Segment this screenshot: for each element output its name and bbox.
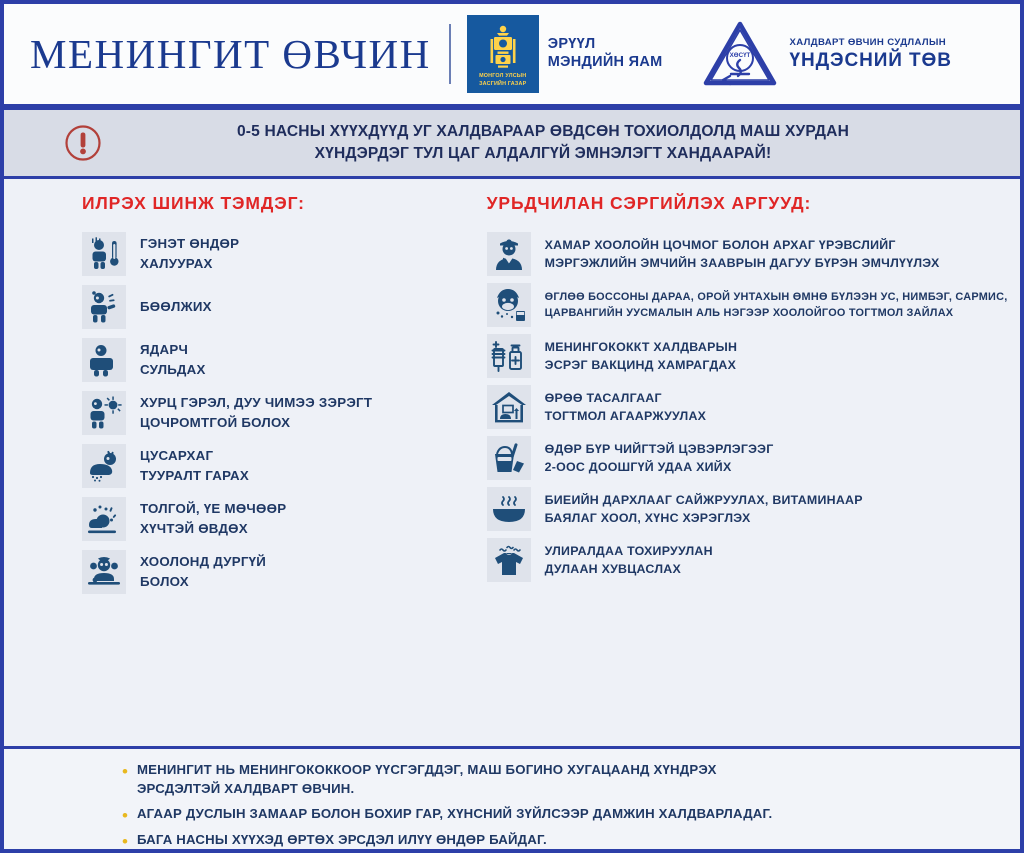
government-logo-block: МОНГОЛ УЛСЫН ЗАСГИЙН ГАЗАР ЭРҮҮЛ МЭНДИЙН… xyxy=(467,15,663,93)
list-item: ЯДАРЧ СУЛЬДАХ xyxy=(82,338,471,382)
list-item-text: ЯДАРЧ СУЛЬДАХ xyxy=(140,340,206,380)
footer-line-1: АГААР ДУСЛЫН ЗАМААР БОЛОН БОХИР ГАР, ХҮН… xyxy=(137,805,772,824)
title-divider xyxy=(449,24,451,84)
item-line-2: БАЯЛАГ ХООЛ, ХҮНС ХЭРЭГЛЭХ xyxy=(545,509,863,527)
gargling-icon xyxy=(487,283,531,327)
footer-line-1: БАГА НАСНЫ ХҮҮХЭД ӨРТӨХ ЭРСДЭЛ ИЛҮҮ ӨНДӨ… xyxy=(137,831,547,850)
item-line-2: ЦАРВАНГИЙН УУСМАЛЫН АЛЬ НЭГЭЭР ХООЛОЙГОО… xyxy=(545,305,1008,321)
item-line-1: ӨГЛӨӨ БОССОНЫ ДАРАА, ОРОЙ УНТАХЫН ӨМНӨ Б… xyxy=(545,289,1008,305)
item-line-2: ХАЛУУРАХ xyxy=(140,254,239,274)
infographic-page: МЕНИНГИТ ӨВЧИН xyxy=(0,0,1024,853)
ncc-line-2: ҮНДЭСНИЙ ТӨВ xyxy=(790,50,952,71)
footer-item-text: АГААР ДУСЛЫН ЗАМААР БОЛОН БОХИР ГАР, ХҮН… xyxy=(137,805,772,824)
ncc-triangle-caduceus-icon: ХӨСҮТ xyxy=(701,18,779,90)
item-line-1: ХУРЦ ГЭРЭЛ, ДУУ ЧИМЭЭ ЗЭРЭГТ xyxy=(140,393,372,413)
list-item: ГЭНЭТ ӨНДӨР ХАЛУУРАХ xyxy=(82,232,471,276)
bullet-icon: • xyxy=(122,763,128,798)
list-item: ХУРЦ ГЭРЭЛ, ДУУ ЧИМЭЭ ЗЭРЭГТ ЦОЧРОМТГОЙ … xyxy=(82,391,471,435)
item-line-1: БИЕИЙН ДАРХЛААГ САЙЖРУУЛАХ, ВИТАМИНААР xyxy=(545,491,863,509)
item-line-1: ӨДӨР БҮР ЧИЙГТЭЙ ЦЭВЭРЛЭГЭЭГ xyxy=(545,440,774,458)
item-line-2: БОЛОХ xyxy=(140,572,266,592)
mongolia-government-emblem: МОНГОЛ УЛСЫН ЗАСГИЙН ГАЗАР xyxy=(467,15,539,93)
item-line-1: ЦУСАРХАГ xyxy=(140,446,249,466)
list-item-text: ЦУСАРХАГ ТУУРАЛТ ГАРАХ xyxy=(140,446,249,486)
list-item: ӨДӨР БҮР ЧИЙГТЭЙ ЦЭВЭРЛЭГЭЭГ 2-ООС ДООШГ… xyxy=(487,436,1020,480)
warning-banner-text: 0-5 НАСНЫ ХҮҮХДҮҮД УГ ХАЛДВАРААР ӨВДСӨН … xyxy=(124,121,1020,165)
warning-line-2: ХҮНДЭРДЭГ ТУЛ ЦАГ АЛДАЛГҮЙ ЭМНЭЛЭГТ ХАНД… xyxy=(124,143,962,165)
list-item-text: ХООЛОНД ДУРГҮЙ БОЛОХ xyxy=(140,552,266,592)
list-item: ХАМАР ХООЛОЙН ЦОЧМОГ БОЛОН АРХАГ ҮРЭВСЛИ… xyxy=(487,232,1020,276)
baby-fever-icon xyxy=(82,232,126,276)
svg-text:ХӨСҮТ: ХӨСҮТ xyxy=(729,52,750,59)
footer-item-text: МЕНИНГИТ НЬ МЕНИНГОКОККООР ҮҮСГЭГДДЭГ, М… xyxy=(137,761,717,798)
item-line-1: УЛИРАЛДАА ТОХИРУУЛАН xyxy=(545,542,713,560)
list-item-text: БИЕИЙН ДАРХЛААГ САЙЖРУУЛАХ, ВИТАМИНААР Б… xyxy=(545,491,863,528)
baby-fatigue-icon xyxy=(82,338,126,382)
list-item-text: МЕНИНГОКОККТ ХАЛДВАРЫН ЭСРЭГ ВАКЦИНД ХАМ… xyxy=(545,338,738,375)
list-item-text: ӨРӨӨ ТАСАЛГААГ ТОГТМОЛ АГААРЖУУЛАХ xyxy=(545,389,707,426)
prevention-heading: УРЬДЧИЛАН СЭРГИЙЛЭХ АРГУУД: xyxy=(487,193,1020,214)
list-item-text: УЛИРАЛДАА ТОХИРУУЛАН ДУЛААН ХУВЦАСЛАХ xyxy=(545,542,713,579)
soyombo-symbol-icon xyxy=(488,25,518,71)
footer-line-2: ЭРСДЭЛТЭЙ ХАЛДВАРТ ӨВЧИН. xyxy=(137,780,717,799)
vaccine-syringe-icon xyxy=(487,334,531,378)
ncc-name-label: ХАЛДВАРТ ӨВЧИН СУДЛАЛЫН ҮНДЭСНИЙ ТӨВ xyxy=(790,37,952,71)
content-area: ИЛРЭХ ШИНЖ ТЭМДЭГ: xyxy=(4,179,1020,746)
list-item: • МЕНИНГИТ НЬ МЕНИНГОКОККООР ҮҮСГЭГДДЭГ,… xyxy=(122,761,980,798)
header: МЕНИНГИТ ӨВЧИН xyxy=(4,4,1020,107)
item-line-2: МЭРГЭЖЛИЙН ЭМЧИЙН ЗААВРЫН ДАГУУ БҮРЭН ЭМ… xyxy=(545,254,940,272)
list-item: ӨРӨӨ ТАСАЛГААГ ТОГТМОЛ АГААРЖУУЛАХ xyxy=(487,385,1020,429)
ncc-logo-block: ХӨСҮТ ХАЛДВАРТ ӨВЧИН СУДЛАЛЫН ҮНДЭСНИЙ Т… xyxy=(701,18,952,90)
item-line-2: ТУУРАЛТ ГАРАХ xyxy=(140,466,249,486)
baby-headache-joint-pain-icon xyxy=(82,497,126,541)
item-line-2: ХҮЧТЭЙ ӨВДӨХ xyxy=(140,519,286,539)
symptoms-column: ИЛРЭХ ШИНЖ ТЭМДЭГ: xyxy=(4,193,471,746)
ministry-line-1: ЭРҮҮЛ xyxy=(548,36,663,54)
list-item: БИЕИЙН ДАРХЛААГ САЙЖРУУЛАХ, ВИТАМИНААР Б… xyxy=(487,487,1020,531)
item-line-2: ЦОЧРОМТГОЙ БОЛОХ xyxy=(140,413,372,433)
emblem-caption-line1: МОНГОЛ УЛСЫН xyxy=(479,73,526,81)
warning-banner: 0-5 НАСНЫ ХҮҮХДҮҮД УГ ХАЛДВАРААР ӨВДСӨН … xyxy=(4,107,1020,179)
item-line-1: ХООЛОНД ДУРГҮЙ xyxy=(140,552,266,572)
ministry-of-health-label: ЭРҮҮЛ МЭНДИЙН ЯАМ xyxy=(548,36,663,71)
list-item-text: БӨӨЛЖИХ xyxy=(140,297,212,317)
item-line-1: ТОЛГОЙ, ҮЕ МӨЧӨӨР xyxy=(140,499,286,519)
doctor-icon xyxy=(487,232,531,276)
list-item: БӨӨЛЖИХ xyxy=(82,285,471,329)
list-item: МЕНИНГОКОККТ ХАЛДВАРЫН ЭСРЭГ ВАКЦИНД ХАМ… xyxy=(487,334,1020,378)
item-line-1: ЯДАРЧ xyxy=(140,340,206,360)
page-title: МЕНИНГИТ ӨВЧИН xyxy=(30,30,431,78)
child-no-appetite-icon xyxy=(82,550,126,594)
ncc-line-1: ХАЛДВАРТ ӨВЧИН СУДЛАЛЫН xyxy=(790,37,952,49)
baby-light-sound-sensitivity-icon xyxy=(82,391,126,435)
ministry-line-2: МЭНДИЙН ЯАМ xyxy=(548,54,663,72)
list-item-text: ӨГЛӨӨ БОССОНЫ ДАРАА, ОРОЙ УНТАХЫН ӨМНӨ Б… xyxy=(545,289,1008,322)
list-item-text: ГЭНЭТ ӨНДӨР ХАЛУУРАХ xyxy=(140,234,239,274)
baby-vomiting-icon xyxy=(82,285,126,329)
item-line-1: ХАМАР ХООЛОЙН ЦОЧМОГ БОЛОН АРХАГ ҮРЭВСЛИ… xyxy=(545,236,940,254)
list-item-text: ТОЛГОЙ, ҮЕ МӨЧӨӨР ХҮЧТЭЙ ӨВДӨХ xyxy=(140,499,286,539)
list-item: ЦУСАРХАГ ТУУРАЛТ ГАРАХ xyxy=(82,444,471,488)
footer-line-1: МЕНИНГИТ НЬ МЕНИНГОКОККООР ҮҮСГЭГДДЭГ, М… xyxy=(137,761,717,780)
list-item-text: ХУРЦ ГЭРЭЛ, ДУУ ЧИМЭЭ ЗЭРЭГТ ЦОЧРОМТГОЙ … xyxy=(140,393,372,433)
emblem-caption-line2: ЗАСГИЙН ГАЗАР xyxy=(479,81,526,89)
footer-facts: • МЕНИНГИТ НЬ МЕНИНГОКОККООР ҮҮСГЭГДДЭГ,… xyxy=(4,746,1020,849)
item-line-1: МЕНИНГОКОККТ ХАЛДВАРЫН xyxy=(545,338,738,356)
footer-item-text: БАГА НАСНЫ ХҮҮХЭД ӨРТӨХ ЭРСДЭЛ ИЛҮҮ ӨНДӨ… xyxy=(137,831,547,850)
item-line-2: СУЛЬДАХ xyxy=(140,360,206,380)
item-line-2: ЭСРЭГ ВАКЦИНД ХАМРАГДАХ xyxy=(545,356,738,374)
item-line-1: БӨӨЛЖИХ xyxy=(140,297,212,317)
item-line-2: 2-ООС ДООШГҮЙ УДАА ХИЙХ xyxy=(545,458,774,476)
list-item: • АГААР ДУСЛЫН ЗАМААР БОЛОН БОХИР ГАР, Х… xyxy=(122,805,980,824)
bullet-icon: • xyxy=(122,833,128,850)
bucket-mop-cleaning-icon xyxy=(487,436,531,480)
list-item: ӨГЛӨӨ БОССОНЫ ДАРАА, ОРОЙ УНТАХЫН ӨМНӨ Б… xyxy=(487,283,1020,327)
warning-line-1: 0-5 НАСНЫ ХҮҮХДҮҮД УГ ХАЛДВАРААР ӨВДСӨН … xyxy=(124,121,962,143)
list-item: ХООЛОНД ДУРГҮЙ БОЛОХ xyxy=(82,550,471,594)
list-item: • БАГА НАСНЫ ХҮҮХЭД ӨРТӨХ ЭРСДЭЛ ИЛҮҮ ӨН… xyxy=(122,831,980,850)
warm-clothing-icon xyxy=(487,538,531,582)
list-item-text: ӨДӨР БҮР ЧИЙГТЭЙ ЦЭВЭРЛЭГЭЭГ 2-ООС ДООШГ… xyxy=(545,440,774,477)
list-item-text: ХАМАР ХООЛОЙН ЦОЧМОГ БОЛОН АРХАГ ҮРЭВСЛИ… xyxy=(545,236,940,273)
list-item: УЛИРАЛДАА ТОХИРУУЛАН ДУЛААН ХУВЦАСЛАХ xyxy=(487,538,1020,582)
item-line-1: ГЭНЭТ ӨНДӨР xyxy=(140,234,239,254)
item-line-2: ТОГТМОЛ АГААРЖУУЛАХ xyxy=(545,407,707,425)
house-ventilation-icon xyxy=(487,385,531,429)
baby-rash-icon xyxy=(82,444,126,488)
bullet-icon: • xyxy=(122,807,128,824)
symptoms-heading: ИЛРЭХ ШИНЖ ТЭМДЭГ: xyxy=(82,193,471,214)
soup-bowl-icon xyxy=(487,487,531,531)
warning-exclamation-icon xyxy=(64,124,102,162)
item-line-2: ДУЛААН ХУВЦАСЛАХ xyxy=(545,560,713,578)
prevention-column: УРЬДЧИЛАН СЭРГИЙЛЭХ АРГУУД: xyxy=(471,193,1020,746)
item-line-1: ӨРӨӨ ТАСАЛГААГ xyxy=(545,389,707,407)
list-item: ТОЛГОЙ, ҮЕ МӨЧӨӨР ХҮЧТЭЙ ӨВДӨХ xyxy=(82,497,471,541)
